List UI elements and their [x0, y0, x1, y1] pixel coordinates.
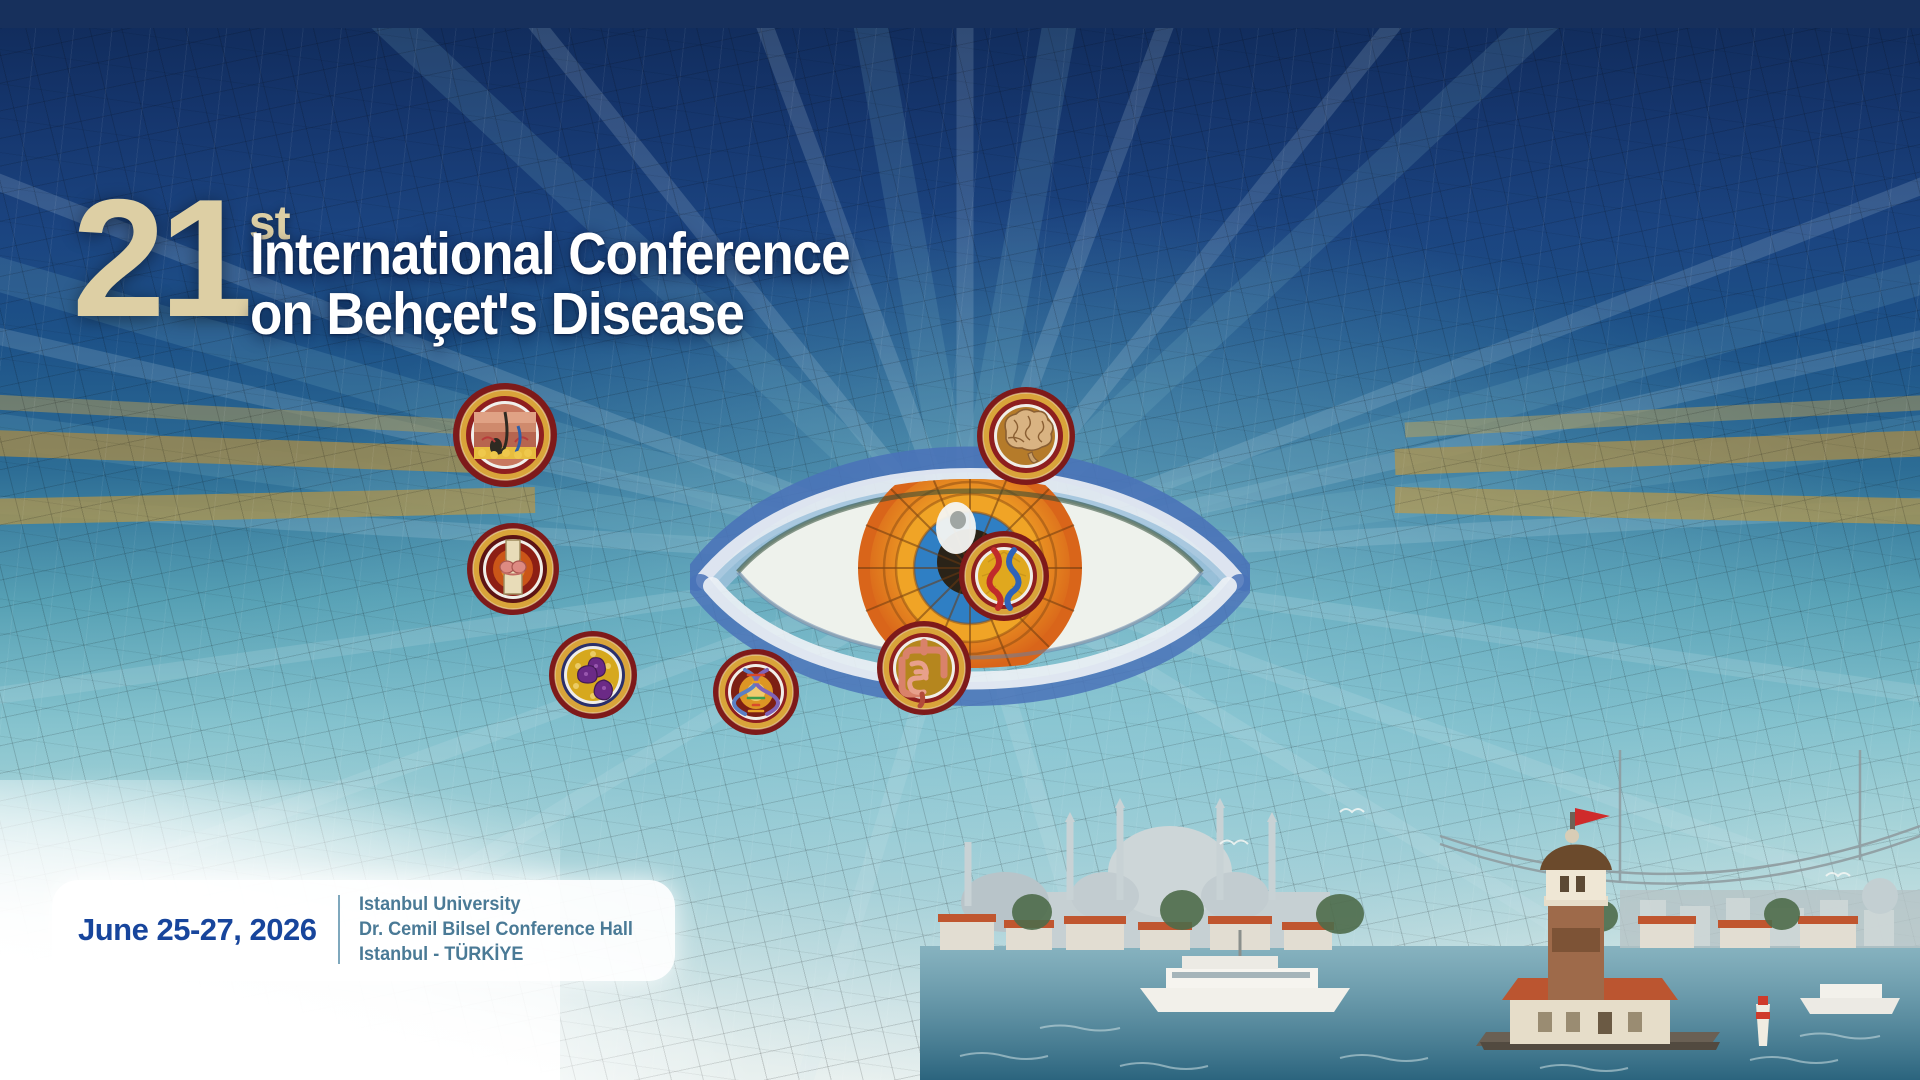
blood-vessels-icon [958, 530, 1050, 622]
medallion-skin [452, 382, 558, 493]
conference-title-line2: on Behçet's Disease [250, 284, 850, 344]
brain-icon [976, 386, 1076, 486]
dna-helix-icon [712, 648, 800, 736]
event-info-pill: June 25-27, 2026 Istanbul University Dr.… [52, 880, 675, 981]
event-venue: Istanbul University Dr. Cemil Bilsel Con… [340, 892, 633, 967]
event-dates: June 25-27, 2026 [78, 912, 338, 948]
immune-cells-icon [548, 630, 638, 720]
medallion-joint [466, 522, 560, 621]
skin-layers-icon [452, 382, 558, 488]
medallion-brain [976, 386, 1076, 491]
medallion-gut [876, 620, 972, 721]
medallion-cells [548, 630, 638, 725]
medallion-vessels [958, 530, 1050, 627]
conference-banner: 21 st International Conference on Behçet… [0, 0, 1920, 1080]
intestines-icon [876, 620, 972, 716]
conference-title: International Conference on Behçet's Dis… [250, 224, 850, 344]
venue-line-1: Istanbul University [359, 892, 633, 917]
title-block: 21 st International Conference on Behçet… [72, 186, 290, 330]
top-accent-bar [0, 0, 1920, 28]
istanbul-bosphorus-scene [920, 750, 1920, 1080]
medallion-dna [712, 648, 800, 741]
venue-line-3: Istanbul - TÜRKİYE [359, 942, 633, 967]
venue-line-2: Dr. Cemil Bilsel Conference Hall [359, 917, 633, 942]
knee-joint-icon [466, 522, 560, 616]
edition-number: 21 [72, 186, 247, 330]
conference-title-line1: International Conference [250, 224, 850, 284]
